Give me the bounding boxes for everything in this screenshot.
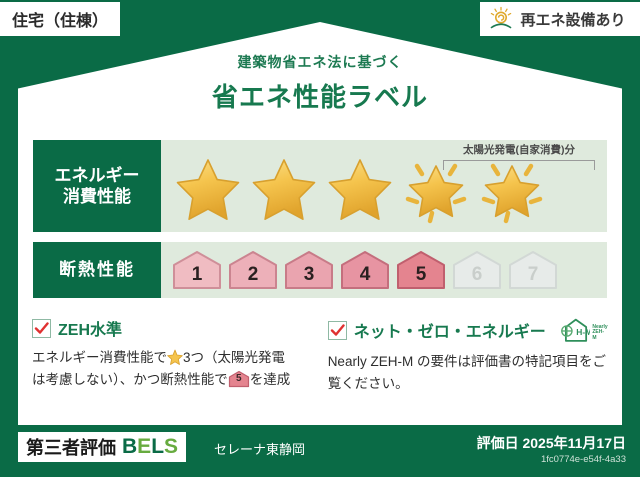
zeh-m-caption-line2: ZEH-M xyxy=(592,329,604,341)
zeh-text-b: 3つ（太陽光発電 xyxy=(183,350,285,365)
zeh-description: エネルギー消費性能で3つ（太陽光発電 は考慮しない）、かつ断熱性能で5を達成 xyxy=(32,347,300,392)
insulation-level-number: 4 xyxy=(360,264,371,291)
bels-badge: 第三者評価 BELS xyxy=(18,432,186,462)
renewable-equipment-chip: 再エネ設備あり xyxy=(480,2,640,36)
zeh-m-logo: H-M Nearly ZEH-M xyxy=(557,316,608,344)
nze-title: ネット・ゼロ・エネルギー xyxy=(354,318,546,342)
insulation-level-1: 1 xyxy=(171,249,223,291)
energy-label-line2: 消費性能 xyxy=(63,186,131,207)
insulation-levels-area: 1 2 3 4 5 xyxy=(161,242,607,298)
inline-insulation-badge-value: 5 xyxy=(228,370,250,388)
star-icon-5-solar xyxy=(475,152,549,226)
insulation-level-number: 6 xyxy=(472,264,483,291)
insulation-level-number: 2 xyxy=(248,264,259,291)
zeh-checkbox xyxy=(32,319,51,338)
house-type-label: 住宅（住棟） xyxy=(12,7,108,31)
star-rating xyxy=(171,152,549,226)
nze-checkbox xyxy=(328,321,347,340)
nze-heading: ネット・ゼロ・エネルギー H-M Nearly ZEH-M xyxy=(328,316,608,344)
insulation-performance-row: 断熱性能 1 2 3 4 xyxy=(33,242,607,298)
footer-bar: 第三者評価 BELS セレーナ東静岡 評価日 2025年11月17日 1fc07… xyxy=(0,425,640,477)
nze-description: Nearly ZEH-M の要件は評価書の特記項目をご覧ください。 xyxy=(328,351,608,396)
evaluation-date: 評価日 2025年11月17日 xyxy=(477,433,626,453)
zeh-heading: ZEH水準 xyxy=(32,316,300,340)
bels-letter-s: S xyxy=(164,435,178,458)
evaluation-id: 1fc0774e-e54f-4a33 xyxy=(541,454,626,465)
bels-letter-e: E xyxy=(137,435,151,458)
insulation-level-4: 4 xyxy=(339,249,391,291)
insulation-level-number: 7 xyxy=(528,264,539,291)
project-name: セレーナ東静岡 xyxy=(214,439,305,458)
criteria-columns: ZEH水準 エネルギー消費性能で3つ（太陽光発電 は考慮しない）、かつ断熱性能で… xyxy=(18,316,622,416)
energy-label-root: 住宅（住棟） 再エネ設備あり 建築物省エネ法に基づく 省エネ性能ラベル xyxy=(0,0,640,477)
insulation-level-list: 1 2 3 4 5 xyxy=(171,249,559,291)
title-main: 省エネ性能ラベル xyxy=(0,77,640,114)
star-icon-1 xyxy=(171,152,245,226)
title-block: 建築物省エネ法に基づく 省エネ性能ラベル xyxy=(0,52,640,114)
bels-wordmark: BELS xyxy=(122,435,178,459)
insulation-label-text: 断熱性能 xyxy=(59,259,135,280)
zeh-m-logo-caption: Nearly ZEH-M xyxy=(592,325,608,345)
insulation-level-6: 6 xyxy=(451,249,503,291)
bels-letter-l: L xyxy=(151,435,164,458)
insulation-level-7: 7 xyxy=(507,249,559,291)
house-type-chip: 住宅（住棟） xyxy=(0,2,120,36)
zeh-text-c: は考慮しない）、かつ断熱性能で xyxy=(32,372,228,387)
energy-performance-stars-area: 太陽光発電(自家消費)分 xyxy=(161,140,607,232)
star-icon-4-solar xyxy=(399,152,473,226)
star-icon-2 xyxy=(247,152,321,226)
zeh-text-a: エネルギー消費性能で xyxy=(32,350,167,365)
insulation-level-number: 5 xyxy=(416,264,427,291)
energy-performance-row: エネルギー 消費性能 太陽光発電(自家消費)分 xyxy=(33,140,607,232)
insulation-level-2: 2 xyxy=(227,249,279,291)
inline-star-icon xyxy=(167,349,183,365)
insulation-level-number: 1 xyxy=(192,264,203,291)
star-icon-3 xyxy=(323,152,397,226)
bels-letter-b: B xyxy=(122,435,137,458)
insulation-performance-label: 断熱性能 xyxy=(33,242,161,298)
sun-icon xyxy=(488,6,514,32)
zeh-title: ZEH水準 xyxy=(58,316,122,340)
insulation-level-5: 5 xyxy=(395,249,447,291)
inline-insulation-badge: 5 xyxy=(228,370,250,388)
zeh-column: ZEH水準 エネルギー消費性能で3つ（太陽光発電 は考慮しない）、かつ断熱性能で… xyxy=(18,316,314,416)
zeh-text-d: を達成 xyxy=(250,372,291,387)
title-subtitle: 建築物省エネ法に基づく xyxy=(0,52,640,72)
bels-third-party-label: 第三者評価 xyxy=(26,434,116,460)
svg-text:H-M: H-M xyxy=(576,327,590,337)
energy-label-line1: エネルギー xyxy=(55,165,140,186)
nze-column: ネット・ゼロ・エネルギー H-M Nearly ZEH-M xyxy=(314,316,622,416)
renewable-equipment-label: 再エネ設備あり xyxy=(520,9,625,30)
energy-performance-label: エネルギー 消費性能 xyxy=(33,140,161,232)
insulation-level-number: 3 xyxy=(304,264,315,291)
insulation-level-3: 3 xyxy=(283,249,335,291)
